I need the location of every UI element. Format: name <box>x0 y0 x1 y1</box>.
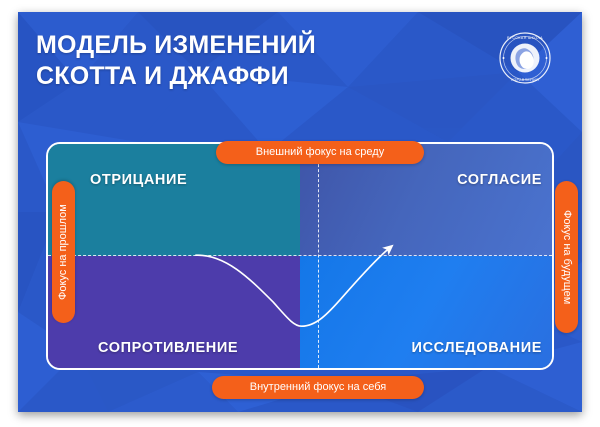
title-line-2: СКОТТА И ДЖАФФИ <box>36 61 436 92</box>
axis-label-bottom: Внутренний фокус на себя <box>212 376 424 399</box>
svg-text:УПРАВЛЕНИЯ: УПРАВЛЕНИЯ <box>511 78 539 82</box>
page-title: МОДЕЛЬ ИЗМЕНЕНИЙ СКОТТА И ДЖАФФИ <box>36 30 436 91</box>
quadrant-label-exploration: ИССЛЕДОВАНИЕ <box>412 340 542 356</box>
poster-header: МОДЕЛЬ ИЗМЕНЕНИЙ СКОТТА И ДЖАФФИ РУССКАЯ… <box>18 12 582 112</box>
axis-label-right: Фокус на будущем <box>555 181 578 333</box>
axis-label-left: Фокус на прошлом <box>52 181 75 323</box>
infographic-poster: МОДЕЛЬ ИЗМЕНЕНИЙ СКОТТА И ДЖАФФИ РУССКАЯ… <box>18 12 582 412</box>
quadrant-label-resistance: СОПРОТИВЛЕНИЕ <box>98 340 238 356</box>
quadrant-label-acceptance: СОГЛАСИЕ <box>457 172 542 188</box>
russian-school-of-management-logo: РУССКАЯ ШКОЛА УПРАВЛЕНИЯ <box>497 30 553 86</box>
svg-text:РУССКАЯ ШКОЛА: РУССКАЯ ШКОЛА <box>507 36 543 40</box>
quadrant-label-denial: ОТРИЦАНИЕ <box>90 172 187 188</box>
horizontal-divider <box>48 255 552 256</box>
title-line-1: МОДЕЛЬ ИЗМЕНЕНИЙ <box>36 31 316 59</box>
vertical-divider <box>318 144 319 368</box>
axis-label-top: Внешний фокус на среду <box>216 141 424 164</box>
